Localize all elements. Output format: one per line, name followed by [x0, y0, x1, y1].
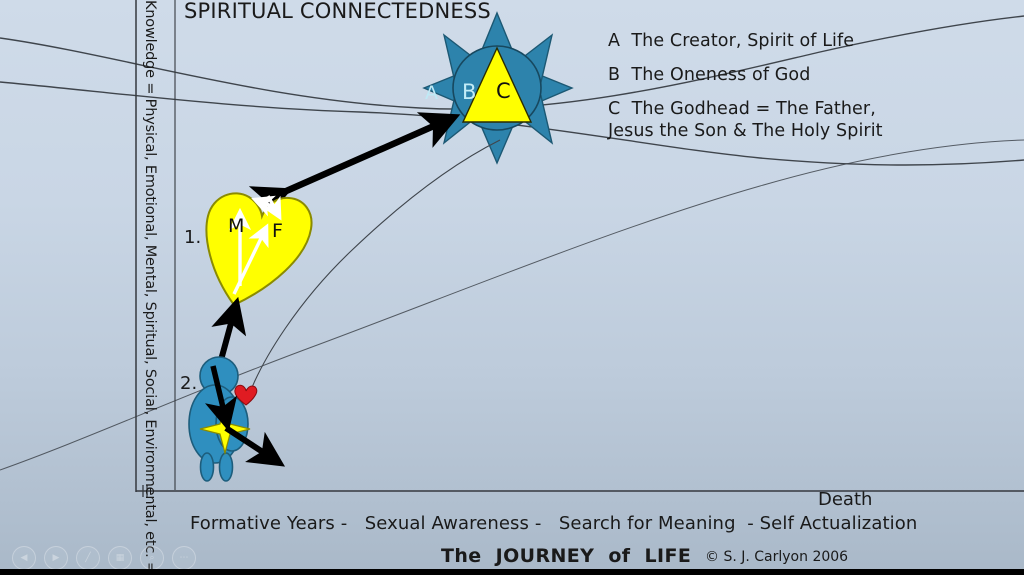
copyright-notice: © S. J. Carlyon 2006 — [705, 549, 848, 565]
pen-tool-icon[interactable]: ╱ — [76, 546, 100, 570]
heart-label-male: M — [228, 215, 244, 237]
legend-item-c-line2: Jesus the Son & The Holy Spirit — [608, 121, 883, 141]
step-number-one: 1. — [184, 227, 201, 248]
arrow-heart-to-sun — [284, 118, 452, 192]
heart-relationship — [206, 193, 311, 305]
person-figure — [189, 357, 248, 481]
y-axis-label: Knowledge = Physical, Emotional, Mental,… — [142, 0, 158, 500]
heart-label-female: F — [272, 220, 283, 242]
slide-grid-icon[interactable]: ▦ — [108, 546, 132, 570]
sun-label-a: A — [425, 82, 438, 104]
presentation-toolbar[interactable]: ◀ ▶ ╱ ▦ ⌕ ⋯ — [12, 546, 196, 570]
footer-title: The JOURNEY of LIFE — [441, 545, 691, 567]
zoom-tool-icon[interactable]: ⌕ — [140, 546, 164, 570]
presentation-slide: SPIRITUAL CONNECTEDNESS Knowledge = Phys… — [0, 0, 1024, 575]
next-slide-button[interactable]: ▶ — [44, 546, 68, 570]
legend-item-a: A The Creator, Spirit of Life — [608, 31, 854, 51]
legend-item-b: B The Oneness of God — [608, 65, 810, 85]
bottom-black-bar — [0, 569, 1024, 575]
previous-slide-button[interactable]: ◀ — [12, 546, 36, 570]
death-label: Death — [818, 489, 872, 510]
sun-label-b: B — [462, 80, 476, 104]
page-title: SPIRITUAL CONNECTEDNESS — [184, 0, 491, 23]
more-options-icon[interactable]: ⋯ — [172, 546, 196, 570]
life-stages-label: Formative Years - Sexual Awareness - Sea… — [190, 513, 917, 534]
sun-label-c: C — [496, 79, 511, 103]
legend-item-c-line1: C The Godhead = The Father, — [608, 99, 876, 119]
step-number-two: 2. — [180, 373, 197, 394]
